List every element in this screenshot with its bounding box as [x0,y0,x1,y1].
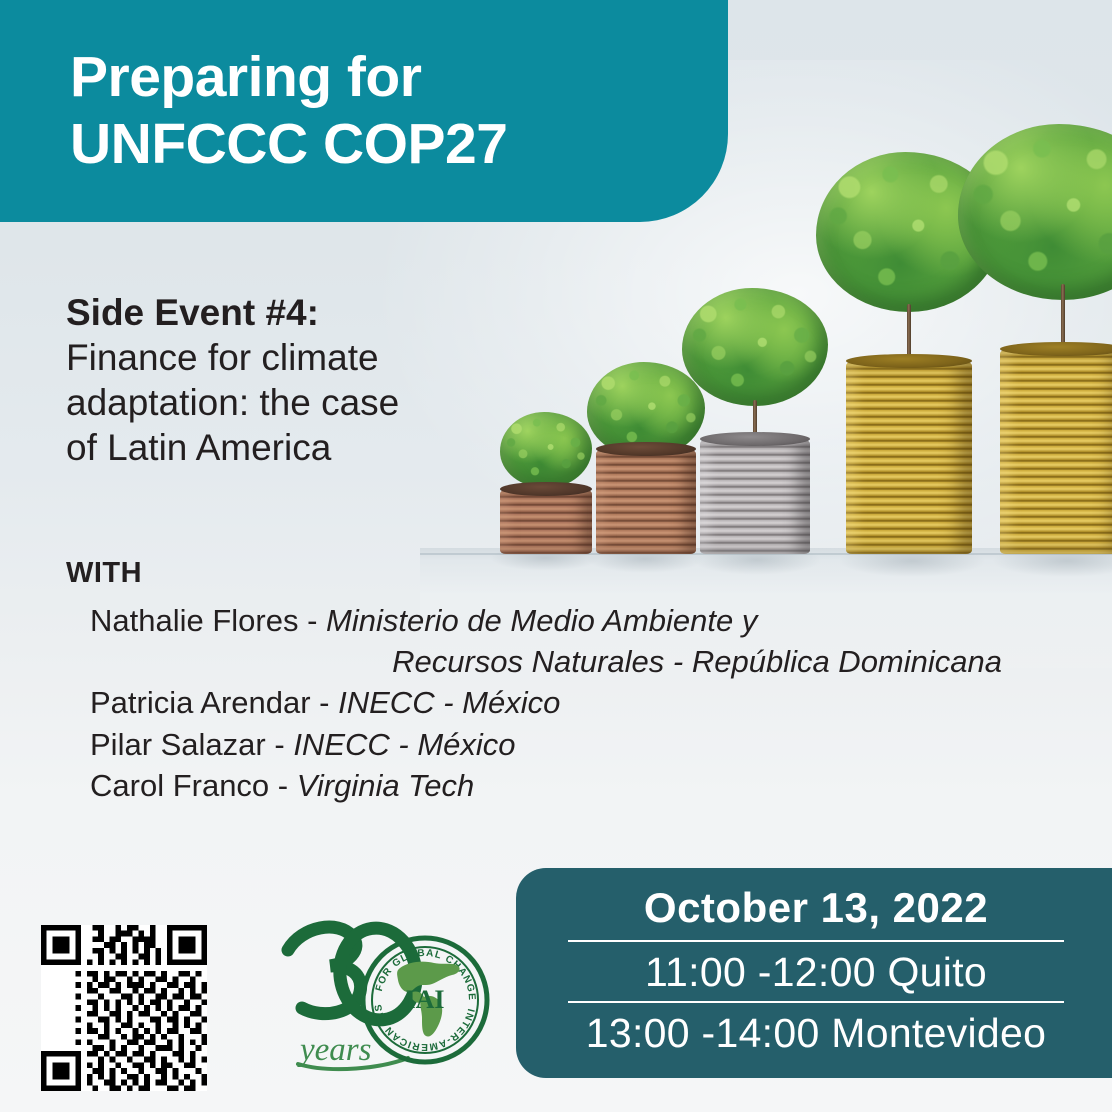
list-item: Patricia Arendar - INECC - México [90,682,1010,723]
coin-stack-2 [596,434,696,554]
speaker-name: Carol Franco [90,768,269,803]
speaker-separator: - [266,727,294,762]
speaker-name: Patricia Arendar [90,685,311,720]
speaker-org: INECC - México [293,727,515,762]
coin-stack-1 [500,474,592,554]
qr-code[interactable] [41,925,207,1091]
speaker-name: Pilar Salazar [90,727,266,762]
coins [846,362,972,554]
page-title: Preparing for UNFCCC COP27 [70,44,507,179]
speaker-org-continuation: Recursos Naturales - República Dominican… [90,641,1010,682]
coin-top [596,442,696,456]
speaker-name: Nathalie Flores [90,603,298,638]
divider [568,940,1064,942]
event-time-montevideo: 13:00 -14:00 Montevideo [546,1005,1086,1060]
header-banner: Preparing for UNFCCC COP27 [0,0,728,222]
list-item: Pilar Salazar - INECC - México [90,724,1010,765]
logo-acronym: IAI [405,985,444,1014]
speaker-separator: - [298,603,326,638]
speaker-separator: - [269,768,297,803]
logo-years-text: years [297,1032,371,1068]
coin-stack-5 [1000,138,1112,554]
divider [568,1001,1064,1003]
coin-stack-3 [700,384,810,554]
speaker-org: Virginia Tech [297,768,475,803]
speaker-separator: - [311,685,339,720]
iai-logo: years FOR GLOBAL CHANGE RESEARCH INTER-A… [272,912,502,1088]
coins [700,440,810,554]
coin-top [700,432,810,446]
event-label: Side Event #4: [66,290,496,335]
coin-top [500,482,592,496]
list-item: Nathalie Flores - Ministerio de Medio Am… [90,600,1010,682]
event-subtitle: Finance for climate adaptation: the case… [66,335,496,470]
coin-top [846,354,972,368]
iai-logo-icon: years FOR GLOBAL CHANGE RESEARCH INTER-A… [272,912,502,1088]
coins [500,490,592,554]
tree-canopy [682,288,828,406]
coin-stack-4 [846,280,972,554]
event-poster: Preparing for UNFCCC COP27 Side Event #4… [0,0,1112,1112]
qr-code-icon [41,925,207,1091]
event-title-block: Side Event #4: Finance for climate adapt… [66,290,496,471]
speaker-org: INECC - México [338,685,560,720]
event-time-quito: 11:00 -12:00 Quito [546,944,1086,999]
with-label: WITH [66,557,142,590]
speaker-list: Nathalie Flores - Ministerio de Medio Am… [90,600,1010,806]
speaker-org: Ministerio de Medio Ambiente y [326,603,757,638]
list-item: Carol Franco - Virginia Tech [90,765,1010,806]
coins [596,450,696,554]
tree-canopy [500,412,592,488]
event-date: October 13, 2022 [546,884,1086,938]
coins [1000,350,1112,554]
schedule-box: October 13, 2022 11:00 -12:00 Quito 13:0… [516,868,1112,1078]
